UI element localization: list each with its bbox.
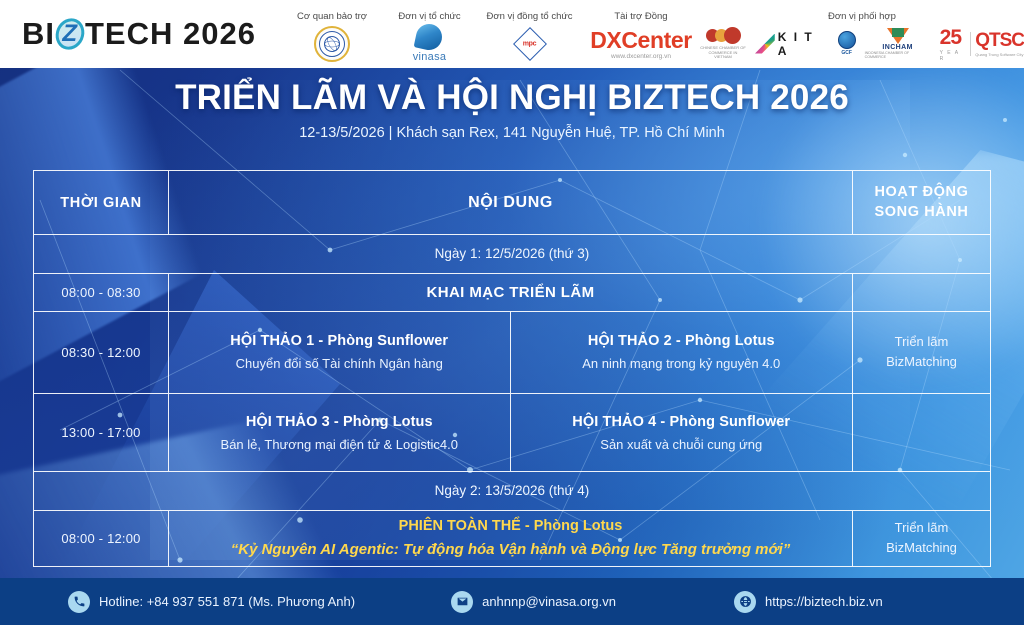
column-header-parallel: HOẠT ĐỘNG SONG HÀNH [853,171,990,234]
qtsc-25year-logo: 25 Y E A R QTSC Quang Trung Software Cit… [940,26,1024,62]
column-header-parallel-line1: HOẠT ĐỘNG [874,183,968,203]
session-cell-left: HỘI THẢO 3 - Phòng Lotus Bán lẻ, Thương … [169,394,511,471]
event-title-block: TRIỂN LÃM VÀ HỘI NGHỊ BIZTECH 2026 12-13… [0,78,1024,141]
biztech-logo[interactable]: BI Z TECH 2026 [22,16,282,52]
page-title: TRIỂN LÃM VÀ HỘI NGHỊ BIZTECH 2026 [0,78,1024,118]
table-row: 08:00 - 08:30 KHAI MẠC TRIỂN LÃM [34,274,990,312]
parallel-line2: BizMatching [886,538,957,559]
sponsor-group-bao-tro: Cơ quan bảo trợ [282,5,382,64]
footer-website-text: https://biztech.biz.vn [765,594,883,609]
table-header-row: THỜI GIAN NỘI DUNG HOẠT ĐỘNG SONG HÀNH [34,171,990,235]
dxcenter-wordmark: DXCenter [590,27,692,54]
day2-label: Ngày 2: 13/5/2026 (thứ 4) [34,472,990,510]
session-subtitle: Sản xuất và chuỗi cung ứng [600,437,762,452]
day-divider-row-day2: Ngày 2: 13/5/2026 (thứ 4) [34,472,990,511]
event-subtitle: 12-13/5/2026 | Khách sạn Rex, 141 Nguyễn… [0,125,1024,141]
sponsor-caption: Đơn vị tổ chức [398,11,460,22]
gcf-logo: GCF [838,31,856,56]
day1-label: Ngày 1: 12/5/2026 (thứ 3) [34,235,990,273]
column-header-content: NỘI DUNG [169,171,853,234]
mail-icon [451,591,473,613]
table-row: 08:00 - 12:00 PHIÊN TOÀN THỂ - Phòng Lot… [34,511,990,566]
mpc-logo: mpc [510,28,550,60]
incham-mark-icon [887,28,909,44]
row-content: HỘI THẢO 3 - Phòng Lotus Bán lẻ, Thương … [169,394,853,471]
sponsor-groups: Cơ quan bảo trợ Đơn vị tổ chức vinasa Đơ… [282,5,1024,64]
session-cell-right: HỘI THẢO 2 - Phòng Lotus An ninh mạng tr… [511,312,853,393]
row-content: KHAI MẠC TRIỂN LÃM [169,274,853,311]
year-label: Y E A R [940,50,967,62]
ministry-seal-logo [314,26,350,62]
session-subtitle: Bán lẻ, Thương mại điện tử & Logistic4.0 [221,437,458,452]
session-subtitle: An ninh mạng trong kỷ nguyên 4.0 [582,356,780,371]
session-title: HỘI THẢO 1 - Phòng Sunflower [230,333,448,349]
sponsor-caption: Tài trợ Đồng [614,11,667,22]
session-title: KHAI MẠC TRIỂN LÃM [426,284,594,301]
qtsc-caption: Quang Trung Software City [975,52,1023,57]
vinasa-logo: vinasa [413,24,447,63]
gcf-globe-icon [838,31,856,49]
parallel-line2: BizMatching [886,352,957,373]
sponsor-group-dong-to-chuc: Đơn vị đồng tổ chức mpc [477,5,582,64]
row-time: 08:00 - 12:00 [34,511,169,566]
vinasa-drop-icon [414,22,445,53]
logo-text-before: BI [22,16,55,52]
row-parallel-activity: Triển lãm BizMatching [853,511,990,566]
dxcenter-logo: DXCenter www.dxcenter.org.vn [590,27,692,60]
gcf-wordmark: GCF [841,50,852,56]
column-header-time: THỜI GIAN [34,171,169,234]
row-time: 08:00 - 08:30 [34,274,169,311]
footer-hotline-text: Hotline: +84 937 551 871 (Ms. Phương Anh… [99,594,355,609]
footer-website[interactable]: https://biztech.biz.vn [734,591,883,613]
vinasa-wordmark: vinasa [413,51,447,63]
row-content: HỘI THẢO 1 - Phòng Sunflower Chuyển đổi … [169,312,853,393]
mpc-wordmark: mpc [523,40,537,47]
logo-text-after: TECH 2026 [85,16,256,52]
incham-logo: INCHAM INDONESIA CHAMBER OF COMMERCE [865,28,931,59]
footer-email[interactable]: anhnnp@vinasa.org.vn [451,591,616,613]
z-letter: Z [55,17,85,51]
session-cell-left: HỘI THẢO 1 - Phòng Sunflower Chuyển đổi … [169,312,511,393]
row-parallel-spacer [853,394,990,471]
sponsor-caption: Đơn vị phối hợp [828,11,896,22]
session-subtitle: “Kỷ Nguyên AI Agentic: Tự động hóa Vận h… [231,541,791,558]
sponsor-caption: Đơn vị đồng tổ chức [487,11,573,22]
year-number: 25 [940,26,967,50]
session-title: HỘI THẢO 3 - Phòng Lotus [246,414,433,430]
column-header-parallel-line2: SONG HÀNH [874,203,968,223]
table-row: 08:30 - 12:00 HỘI THẢO 1 - Phòng Sunflow… [34,312,990,394]
dxcenter-url: www.dxcenter.org.vn [611,53,671,60]
parallel-line1: Triển lãm [886,518,957,539]
sponsor-caption: Cơ quan bảo trợ [297,11,367,22]
kita-logo: K I T A [755,30,829,58]
row-content: PHIÊN TOÀN THỂ - Phòng Lotus “Kỷ Nguyên … [169,511,853,566]
session-title: HỘI THẢO 4 - Phòng Sunflower [572,414,790,430]
table-row: 13:00 - 17:00 HỘI THẢO 3 - Phòng Lotus B… [34,394,990,472]
kita-wordmark: K I T A [778,30,829,58]
vcci-logo: CHINESE CHAMBER OF COMMERCE IN VIETNAM [700,27,746,60]
row-parallel-activity: Triển lãm BizMatching [853,312,990,393]
footer-email-text: anhnnp@vinasa.org.vn [482,594,616,609]
kita-fan-icon [755,34,775,54]
z-mark-icon: Z [55,17,85,51]
session-subtitle: Chuyển đổi số Tài chính Ngân hàng [236,356,443,371]
qtsc-wordmark: QTSC [975,30,1024,52]
day-divider-row-day1: Ngày 1: 12/5/2026 (thứ 3) [34,235,990,274]
contact-footer: Hotline: +84 937 551 871 (Ms. Phương Anh… [0,578,1024,625]
incham-wordmark: INCHAM [882,44,912,51]
sponsor-bar: BI Z TECH 2026 Cơ quan bảo trợ Đơn vị tổ… [0,0,1024,68]
sponsor-group-phoi-hop: Đơn vị phối hợp CHINESE CHAMBER OF COMME… [700,5,1024,64]
sponsor-group-to-chuc: Đơn vị tổ chức vinasa [382,5,477,64]
phone-icon [68,591,90,613]
session-title: HỘI THẢO 2 - Phòng Lotus [588,333,775,349]
parallel-line1: Triển lãm [886,332,957,353]
vcci-caption: CHINESE CHAMBER OF COMMERCE IN VIETNAM [700,46,746,60]
session-cell-right: HỘI THẢO 4 - Phòng Sunflower Sản xuất và… [511,394,853,471]
globe-icon [734,591,756,613]
agenda-table: THỜI GIAN NỘI DUNG HOẠT ĐỘNG SONG HÀNH N… [33,170,991,567]
row-time: 13:00 - 17:00 [34,394,169,471]
poster-canvas: BI Z TECH 2026 Cơ quan bảo trợ Đơn vị tổ… [0,0,1024,625]
qtsc-logo: QTSC Quang Trung Software City [975,30,1024,57]
incham-caption: INDONESIA CHAMBER OF COMMERCE [865,51,931,59]
footer-hotline[interactable]: Hotline: +84 937 551 871 (Ms. Phương Anh… [68,591,355,613]
row-parallel-spacer [853,274,990,311]
sponsor-group-tai-tro-dong: Tài trợ Đồng DXCenter www.dxcenter.org.v… [582,5,700,64]
row-time: 08:30 - 12:00 [34,312,169,393]
session-title: PHIÊN TOÀN THỂ - Phòng Lotus [399,518,623,534]
